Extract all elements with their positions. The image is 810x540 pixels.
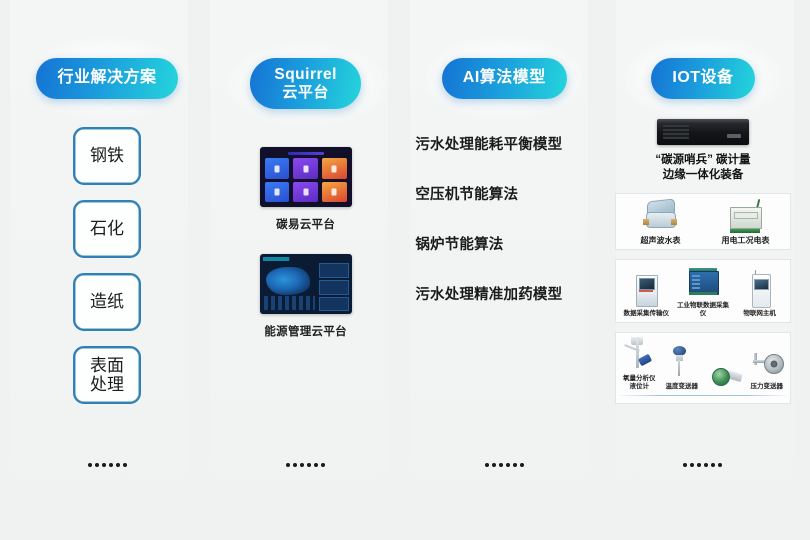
dot [123, 463, 127, 467]
column-iot-devices: IOT设备 “碳源哨兵” 碳计量 边缘一体化装备 超声波水表 [610, 0, 796, 540]
iot-panel-meters: 超声波水表 用电工况电表 [615, 193, 791, 250]
column-industry-solutions: 行业解决方案 钢铁 石化 造纸 表面 处 [14, 0, 200, 540]
data-collector-transmitter-icon [629, 273, 663, 307]
pressure-transmitter-icon [750, 346, 784, 380]
screenshot-titlebar [263, 257, 349, 261]
device-cell-industrial-iot-collector[interactable]: 工业物联数据采集仪 [675, 265, 732, 319]
tag-box-steel[interactable]: 钢铁 [73, 127, 141, 185]
dot [711, 463, 715, 467]
tag-label: 表面 [90, 356, 124, 375]
dot [506, 463, 510, 467]
dot [307, 463, 311, 467]
iot-panel-transmitters: 氧量分析仪 液位计 温度变送器 [615, 332, 791, 404]
more-dots-2 [286, 463, 325, 467]
model-item-wastewater-precise-dosing[interactable]: 污水处理精准加药模型 [415, 283, 562, 304]
iot-hero-item[interactable]: “碳源哨兵” 碳计量 边缘一体化装备 [655, 119, 750, 184]
platform-caption: 能源管理云平台 [264, 323, 347, 339]
iot-hero-caption-line2: 边缘一体化装备 [655, 168, 750, 184]
iot-hero-caption-line1: “碳源哨兵” 碳计量 [655, 153, 750, 169]
dot [102, 463, 106, 467]
device-cell-oxygen-analyzer-level-gauge[interactable]: 氧量分析仪 液位计 [618, 338, 661, 392]
header-pill-label: Squirrel [274, 66, 337, 84]
header-pill-label: 行业解决方案 [57, 69, 156, 88]
dot [485, 463, 489, 467]
header-pill-wrap-1: 行业解决方案 [14, 58, 200, 99]
iot-hero-caption: “碳源哨兵” 碳计量 边缘一体化装备 [655, 153, 750, 184]
tag-box-papermaking[interactable]: 造纸 [73, 273, 141, 331]
tag-label: 造纸 [90, 292, 124, 311]
device-label: 超声波水表 [640, 236, 680, 246]
side-panel [319, 263, 349, 278]
dot [116, 463, 120, 467]
carbon-platform-screenshot [260, 147, 352, 207]
energy-platform-screenshot [260, 254, 352, 314]
screenshot-card [322, 182, 347, 203]
header-pill-label: IOT设备 [672, 69, 733, 88]
tag-box-surface-treatment[interactable]: 表面 处理 [73, 346, 141, 404]
screenshot-card [322, 158, 347, 179]
screenshot-card [265, 182, 290, 203]
header-pill-industry-solutions[interactable]: 行业解决方案 [36, 58, 177, 99]
side-panel [319, 297, 349, 312]
bar-chart-area [264, 296, 315, 310]
platform-caption: 碳易云平台 [276, 216, 335, 232]
dot [683, 463, 687, 467]
dot [697, 463, 701, 467]
dot [513, 463, 517, 467]
model-item-air-compressor-saving[interactable]: 空压机节能算法 [415, 183, 518, 204]
dot [492, 463, 496, 467]
cloud-platform-list: 碳易云平台 [213, 147, 399, 361]
iot-device-list: “碳源哨兵” 碳计量 边缘一体化装备 超声波水表 用电工况电表 [610, 119, 796, 404]
device-label: 用电工况电表 [721, 236, 769, 246]
device-label: 温度变送器 [665, 383, 698, 391]
device-cell-ultrasonic-water-meter[interactable]: 超声波水表 [618, 199, 703, 246]
device-label: 工业物联数据采集仪 [675, 302, 732, 319]
power-condition-meter-icon [728, 199, 762, 233]
dot [321, 463, 325, 467]
oxygen-analyzer-icon [622, 338, 656, 372]
device-cell-iot-host[interactable]: 物联网主机 [731, 273, 788, 318]
screenshot-body [263, 263, 349, 311]
screenshot-map-area [263, 263, 317, 311]
platform-item-carbon[interactable]: 碳易云平台 [260, 147, 352, 232]
model-item-wastewater-energy-balance[interactable]: 污水处理能耗平衡模型 [415, 133, 562, 154]
dot [300, 463, 304, 467]
header-pill-wrap-4: IOT设备 [610, 58, 796, 99]
header-pill-wrap-2: Squirrel 云平台 [213, 58, 399, 109]
tag-label: 石化 [90, 219, 124, 238]
dot [520, 463, 524, 467]
device-label: 数据采集传输仪 [624, 310, 670, 318]
column-ai-models: AI算法模型 污水处理能耗平衡模型 空压机节能算法 锅炉节能算法 污水处理精准加… [411, 0, 597, 540]
header-pill-label: AI算法模型 [463, 69, 546, 88]
header-pill-label-line2: 云平台 [282, 84, 329, 101]
header-pill-iot-devices[interactable]: IOT设备 [651, 58, 754, 99]
more-dots-4 [683, 463, 722, 467]
dot [293, 463, 297, 467]
diagram-stage: 行业解决方案 钢铁 石化 造纸 表面 处 [0, 0, 810, 540]
dot [109, 463, 113, 467]
more-dots-3 [485, 463, 524, 467]
device-label: 压力变送器 [750, 383, 783, 391]
dot [88, 463, 92, 467]
device-label: 氧量分析仪 液位计 [623, 375, 656, 392]
industry-tag-list: 钢铁 石化 造纸 表面 处理 [14, 127, 200, 419]
dot [704, 463, 708, 467]
screenshot-card [293, 182, 318, 203]
device-cell-green-sensor[interactable] [703, 359, 746, 392]
screenshot-card-grid [265, 158, 347, 202]
device-label: 物联网主机 [743, 310, 776, 318]
header-pill-wrap-3: AI算法模型 [411, 58, 597, 99]
map-shape [266, 267, 310, 295]
device-cell-temperature-transmitter[interactable]: 温度变送器 [660, 346, 703, 391]
screenshot-titlebar [288, 152, 324, 155]
green-disc-sensor-icon [711, 359, 737, 389]
rack-server-icon [657, 119, 749, 145]
dot [314, 463, 318, 467]
iot-host-icon [743, 273, 777, 307]
screenshot-card [293, 158, 318, 179]
ai-model-list: 污水处理能耗平衡模型 空压机节能算法 锅炉节能算法 污水处理精准加药模型 [411, 133, 597, 333]
header-pill-squirrel-cloud[interactable]: Squirrel 云平台 [250, 58, 361, 109]
screenshot-side-panels [319, 263, 349, 311]
industrial-iot-collector-icon [686, 265, 720, 299]
dot [95, 463, 99, 467]
temperature-transmitter-icon [665, 346, 699, 380]
ultrasonic-water-meter-icon [643, 199, 677, 233]
dot [690, 463, 694, 467]
tag-label-line2: 处理 [90, 375, 124, 394]
header-pill-ai-models[interactable]: AI算法模型 [442, 58, 567, 99]
column-squirrel-cloud: Squirrel 云平台 碳易云平台 [213, 0, 399, 540]
device-cell-power-meter[interactable]: 用电工况电表 [703, 199, 788, 246]
dot [286, 463, 290, 467]
side-panel [319, 280, 349, 295]
dot [499, 463, 503, 467]
device-cell-pressure-transmitter[interactable]: 压力变送器 [745, 346, 788, 391]
more-dots-1 [88, 463, 127, 467]
dot [718, 463, 722, 467]
model-item-boiler-saving[interactable]: 锅炉节能算法 [415, 233, 503, 254]
screenshot-card [265, 158, 290, 179]
device-cell-data-collector-transmitter[interactable]: 数据采集传输仪 [618, 273, 675, 318]
tag-box-petrochemical[interactable]: 石化 [73, 200, 141, 258]
iot-panel-collectors: 数据采集传输仪 工业物联数据采集仪 物联网主机 [615, 259, 791, 323]
platform-item-energy[interactable]: 能源管理云平台 [260, 254, 352, 339]
tag-label: 钢铁 [90, 146, 124, 165]
